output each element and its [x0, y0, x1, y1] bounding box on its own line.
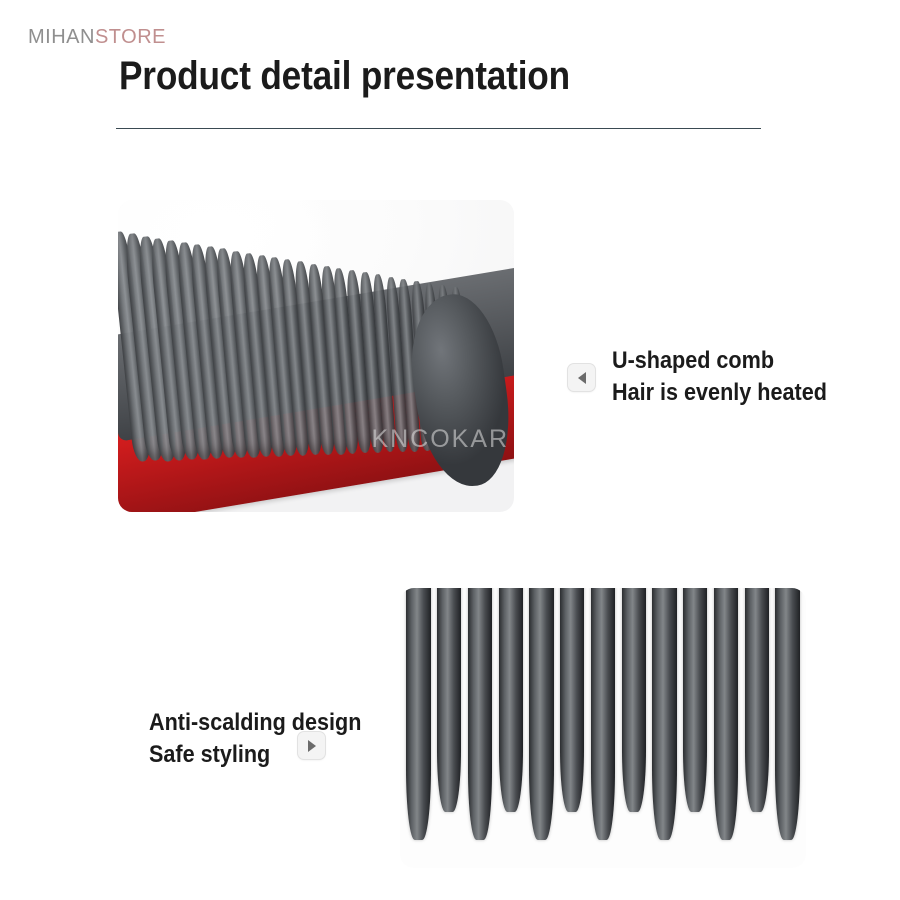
- comb-prong: [714, 588, 738, 840]
- comb-prong: [560, 588, 584, 812]
- caption-line-1: U-shaped comb: [612, 345, 827, 377]
- triangle-left-glyph: [578, 372, 586, 384]
- caption-line-2: Safe styling: [149, 739, 361, 771]
- brand-logo-secondary: STORE: [95, 26, 166, 48]
- triangle-right-icon[interactable]: [298, 732, 325, 759]
- comb-prong: [499, 588, 523, 812]
- comb-prong: [437, 588, 461, 812]
- product-photo-comb-teeth-closeup: [400, 588, 806, 868]
- caption-line-1: Anti-scalding design: [149, 707, 361, 739]
- comb-prong: [406, 588, 430, 840]
- triangle-right-glyph: [308, 740, 316, 752]
- title-divider: [116, 128, 761, 129]
- comb-prong: [591, 588, 615, 840]
- comb-prong: [529, 588, 553, 840]
- product-photo-u-shaped-comb: KNCOKAR: [118, 200, 514, 512]
- comb-prong: [652, 588, 676, 840]
- comb-prong: [745, 588, 769, 812]
- brand-logo: MIHANSTORE: [28, 26, 166, 49]
- brand-logo-primary: MIHAN: [28, 26, 95, 48]
- triangle-left-icon[interactable]: [568, 364, 595, 391]
- page-title: Product detail presentation: [119, 54, 570, 99]
- comb-prong: [775, 588, 799, 840]
- comb-prong: [468, 588, 492, 840]
- caption-line-2: Hair is evenly heated: [612, 377, 827, 409]
- comb-prong: [622, 588, 646, 812]
- caption-u-shaped-comb: U-shaped comb Hair is evenly heated: [612, 345, 827, 409]
- caption-anti-scalding: Anti-scalding design Safe styling: [149, 707, 361, 771]
- comb-prong: [683, 588, 707, 812]
